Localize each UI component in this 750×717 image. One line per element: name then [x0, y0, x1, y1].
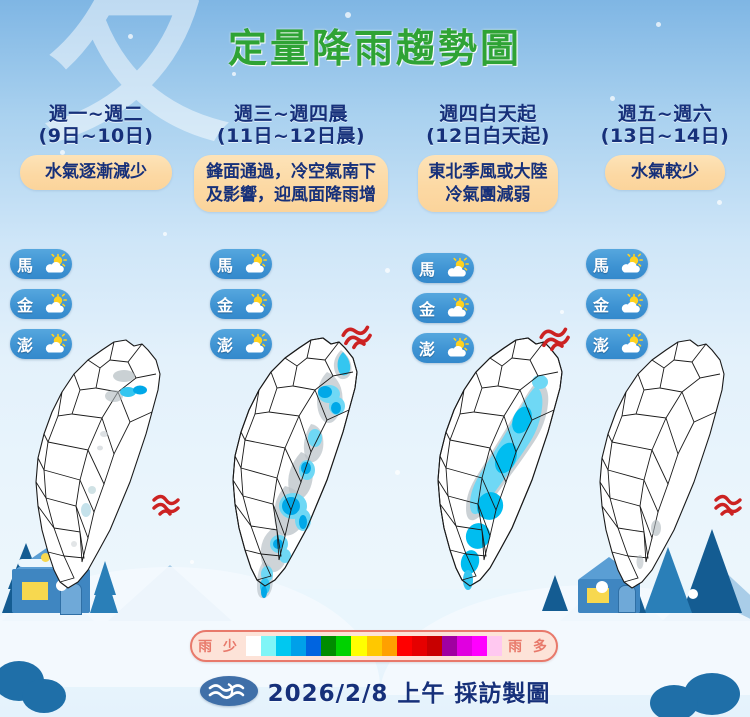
legend-swatch	[412, 636, 427, 656]
island-pill-jin[interactable]: 金	[412, 293, 474, 323]
legend-high-label: 雨 多	[502, 636, 556, 656]
column-1-dates: (9日~10日)	[4, 125, 188, 147]
wind-marker-2	[340, 318, 376, 359]
island-label: 金	[419, 296, 435, 320]
sun-behind-cloud-icon	[619, 253, 643, 275]
legend-low-label: 雨 少	[192, 636, 246, 656]
column-3-header: 週四白天起 (12日白天起)	[398, 103, 578, 147]
legend-swatch	[367, 636, 382, 656]
cwa-wave-logo	[200, 676, 258, 706]
column-2-header: 週三~週四晨 (11日~12日晨)	[192, 103, 390, 147]
legend-swatch	[246, 636, 261, 656]
column-4-period: 週五~週六	[618, 103, 712, 125]
forecast-columns: 週一~週二 (9日~10日) 水氣逐漸減少 馬	[0, 0, 750, 717]
wind-marker-4	[712, 488, 746, 527]
legend-swatch	[291, 636, 306, 656]
island-pill-ma[interactable]: 馬	[412, 253, 474, 283]
island-label: 馬	[593, 252, 609, 276]
island-pill-ma[interactable]: 馬	[586, 249, 648, 279]
column-2-note: 鋒面通過，冷空氣南下及影響，迎風面降雨增	[194, 155, 388, 212]
legend-swatch	[261, 636, 276, 656]
sun-behind-cloud-icon	[445, 257, 469, 279]
taiwan-map-1	[18, 330, 178, 606]
rainfall-legend: 雨 少 雨 多	[190, 630, 558, 662]
legend-swatch	[442, 636, 457, 656]
legend-swatch	[472, 636, 487, 656]
legend-swatch	[397, 636, 412, 656]
island-label: 金	[217, 292, 233, 316]
legend-swatch	[276, 636, 291, 656]
sun-behind-cloud-icon	[445, 297, 469, 319]
column-4-note: 水氣較少	[605, 155, 725, 189]
column-2-period: 週三~週四晨	[234, 103, 348, 125]
sun-behind-cloud-icon	[43, 293, 67, 315]
wind-marker-3	[538, 320, 574, 361]
forecast-column-1: 週一~週二 (9日~10日) 水氣逐漸減少	[4, 103, 188, 190]
forecast-column-3: 週四白天起 (12日白天起) 東北季風或大陸冷氣團減弱	[398, 103, 578, 212]
forecast-column-2: 週三~週四晨 (11日~12日晨) 鋒面通過，冷空氣南下及影響，迎風面降雨增	[192, 103, 390, 212]
column-4-dates: (13日~14日)	[582, 125, 748, 147]
legend-color-scale	[246, 636, 502, 656]
legend-swatch	[321, 636, 336, 656]
legend-swatch	[427, 636, 442, 656]
column-3-dates: (12日白天起)	[398, 125, 578, 147]
taiwan-map-2	[215, 328, 375, 604]
legend-swatch	[351, 636, 366, 656]
island-pill-ma[interactable]: 馬	[210, 249, 272, 279]
column-4-header: 週五~週六 (13日~14日)	[582, 103, 748, 147]
footer: 2026/2/8 上午 採訪製圖	[0, 670, 750, 712]
column-1-period: 週一~週二	[49, 103, 143, 125]
island-pill-jin[interactable]: 金	[10, 289, 72, 319]
island-pill-ma[interactable]: 馬	[10, 249, 72, 279]
infographic-root: 夂	[0, 0, 750, 717]
island-pill-jin[interactable]: 金	[586, 289, 648, 319]
column-2-dates: (11日~12日晨)	[192, 125, 390, 147]
island-label: 馬	[419, 256, 435, 280]
taiwan-map-3	[420, 328, 580, 604]
sun-behind-cloud-icon	[243, 253, 267, 275]
taiwan-map-4	[582, 330, 742, 606]
island-label: 金	[17, 292, 33, 316]
island-label: 馬	[217, 252, 233, 276]
forecast-column-4: 週五~週六 (13日~14日) 水氣較少	[582, 103, 748, 190]
island-label: 金	[593, 292, 609, 316]
column-1-note: 水氣逐漸減少	[20, 155, 172, 189]
island-label: 馬	[17, 252, 33, 276]
wind-marker-1	[150, 488, 184, 527]
sun-behind-cloud-icon	[43, 253, 67, 275]
footer-text: 2026/2/8 上午 採訪製圖	[268, 674, 551, 708]
legend-swatch	[382, 636, 397, 656]
legend-swatch	[306, 636, 321, 656]
column-3-period: 週四白天起	[439, 103, 537, 125]
sun-behind-cloud-icon	[243, 293, 267, 315]
sun-behind-cloud-icon	[619, 293, 643, 315]
legend-swatch	[336, 636, 351, 656]
column-3-note: 東北季風或大陸冷氣團減弱	[418, 155, 558, 212]
island-pill-jin[interactable]: 金	[210, 289, 272, 319]
legend-swatch	[457, 636, 472, 656]
legend-swatch	[487, 636, 502, 656]
column-1-header: 週一~週二 (9日~10日)	[4, 103, 188, 147]
